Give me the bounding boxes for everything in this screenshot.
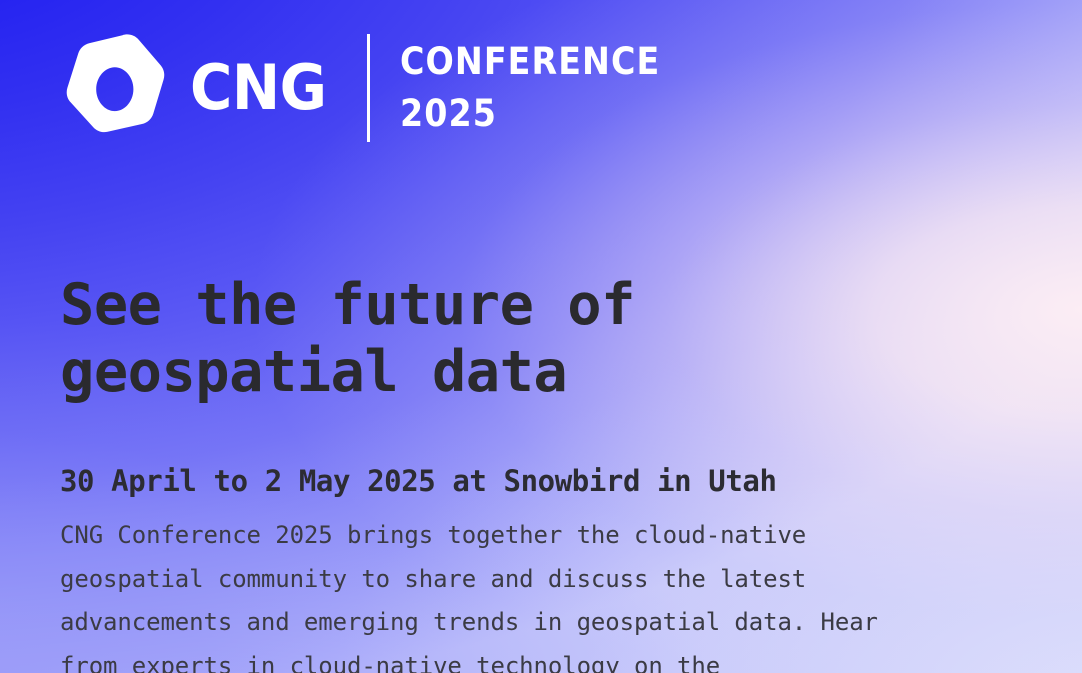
hero-headline: See the future of geospatial data: [60, 272, 930, 406]
hero-description: CNG Conference 2025 brings together the …: [60, 514, 898, 673]
logo-wordmark: CNG: [190, 57, 327, 119]
event-title-line-2: 2025: [400, 88, 660, 140]
event-title-line-1: CONFERENCE: [400, 36, 660, 88]
logo-divider: [367, 34, 370, 142]
hero-subtitle: 30 April to 2 May 2025 at Snowbird in Ut…: [60, 462, 940, 500]
logo-lockup[interactable]: CNG CONFERENCE 2025: [60, 28, 689, 148]
event-title: CONFERENCE 2025: [400, 36, 660, 140]
hero-banner: CNG CONFERENCE 2025 See the future of ge…: [0, 0, 1082, 673]
hero-content: See the future of geospatial data 30 Apr…: [60, 272, 940, 673]
cng-hexagon-logo-icon: [60, 33, 168, 143]
